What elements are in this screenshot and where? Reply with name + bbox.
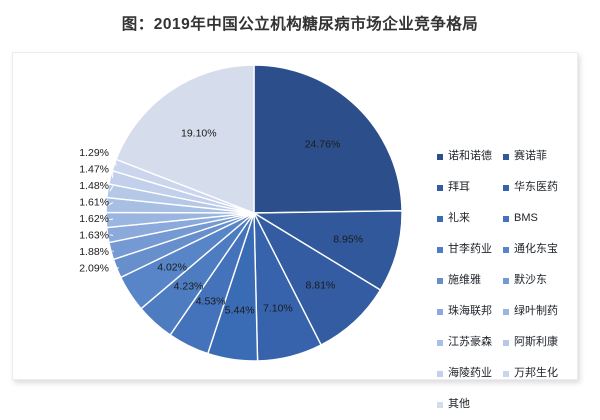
- slice-label: 5.44%: [225, 305, 255, 317]
- legend-swatch-icon: [503, 340, 509, 346]
- legend-item-label: 珠海联邦: [448, 306, 492, 317]
- legend-swatch-icon: [503, 371, 509, 377]
- legend-swatch-icon: [503, 247, 509, 253]
- legend-item[interactable]: BMS: [503, 213, 587, 224]
- slice-label: 7.10%: [263, 303, 293, 315]
- legend-item[interactable]: 拜耳: [437, 182, 503, 193]
- legend-item-label: 甘李药业: [448, 244, 492, 255]
- legend-swatch-icon: [437, 154, 443, 160]
- legend-item[interactable]: 诺和诺德: [437, 151, 503, 162]
- legend-swatch-icon: [437, 216, 443, 222]
- legend-item[interactable]: 通化东宝: [503, 244, 587, 255]
- slice-label: 1.62%: [79, 213, 109, 225]
- slice-label: 1.48%: [79, 180, 109, 192]
- legend-item-label: 通化东宝: [514, 244, 558, 255]
- legend-item[interactable]: 海陵药业: [437, 368, 503, 379]
- legend-item-label: 礼来: [448, 213, 470, 224]
- legend-item-label: 阿斯利康: [514, 337, 558, 348]
- legend-swatch-icon: [503, 216, 509, 222]
- page-title: 图：2019年中国公立机构糖尿病市场企业竞争格局: [0, 12, 600, 34]
- legend-item-label: 华东医药: [514, 182, 558, 193]
- slice-label: 1.29%: [79, 147, 109, 159]
- slice-label: 1.47%: [79, 164, 109, 176]
- slice-label: 2.09%: [79, 263, 109, 275]
- slice-label: 19.10%: [181, 127, 217, 139]
- legend-item-label: 默沙东: [514, 275, 547, 286]
- chart-legend: 诺和诺德赛诺菲拜耳华东医药礼来BMS甘李药业通化东宝施维雅默沙东珠海联邦绿叶制药…: [437, 141, 587, 420]
- chart-panel: 24.76%8.95%8.81%7.10%5.44%4.53%4.23%4.02…: [12, 52, 578, 380]
- legend-swatch-icon: [437, 247, 443, 253]
- legend-swatch-icon: [437, 185, 443, 191]
- legend-item[interactable]: 礼来: [437, 213, 503, 224]
- legend-item[interactable]: 其他: [437, 399, 503, 410]
- legend-item-label: 施维雅: [448, 275, 481, 286]
- legend-item[interactable]: 万邦生化: [503, 368, 587, 379]
- slice-label: 4.02%: [157, 261, 187, 273]
- legend-item[interactable]: 珠海联邦: [437, 306, 503, 317]
- legend-item[interactable]: 赛诺菲: [503, 151, 587, 162]
- legend-item-label: 赛诺菲: [514, 151, 547, 162]
- slice-label: 24.76%: [305, 138, 341, 150]
- legend-item[interactable]: 默沙东: [503, 275, 587, 286]
- slice-label: 1.88%: [79, 246, 109, 258]
- legend-item[interactable]: 江苏豪森: [437, 337, 503, 348]
- legend-swatch-icon: [437, 278, 443, 284]
- legend-swatch-icon: [503, 278, 509, 284]
- legend-swatch-icon: [503, 154, 509, 160]
- legend-item[interactable]: 绿叶制药: [503, 306, 587, 317]
- legend-item[interactable]: 甘李药业: [437, 244, 503, 255]
- slice-label: 4.23%: [174, 281, 204, 293]
- legend-swatch-icon: [437, 340, 443, 346]
- legend-swatch-icon: [503, 309, 509, 315]
- legend-item-label: 海陵药业: [448, 368, 492, 379]
- legend-item-label: 绿叶制药: [514, 306, 558, 317]
- slice-label: 8.81%: [306, 280, 336, 292]
- legend-swatch-icon: [437, 371, 443, 377]
- legend-item-label: BMS: [514, 213, 538, 224]
- slice-label: 1.61%: [79, 197, 109, 209]
- legend-swatch-icon: [437, 309, 443, 315]
- slice-label: 8.95%: [333, 234, 363, 246]
- legend-item-label: 拜耳: [448, 182, 470, 193]
- legend-item-label: 其他: [448, 399, 470, 410]
- legend-item[interactable]: 阿斯利康: [503, 337, 587, 348]
- legend-item-label: 江苏豪森: [448, 337, 492, 348]
- legend-swatch-icon: [503, 185, 509, 191]
- leader-line: [113, 170, 114, 178]
- legend-item[interactable]: 华东医药: [503, 182, 587, 193]
- slice-label: 1.63%: [79, 230, 109, 242]
- slice-label: 4.53%: [196, 296, 226, 308]
- legend-swatch-icon: [437, 402, 443, 408]
- legend-item-label: 万邦生化: [514, 368, 558, 379]
- legend-item[interactable]: 施维雅: [437, 275, 503, 286]
- legend-item-label: 诺和诺德: [448, 151, 492, 162]
